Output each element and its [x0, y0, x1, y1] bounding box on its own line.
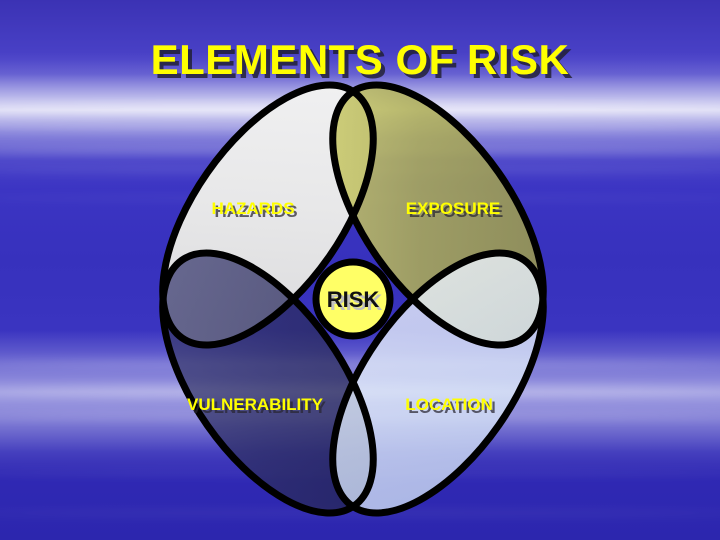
risk-center-circle[interactable]: [316, 262, 390, 336]
slide-canvas: ELEMENTS OF RISK: [0, 0, 720, 540]
risk-venn-diagram: HAZARDS EXPOSURE VULNERABILITY LOCATION …: [0, 0, 720, 540]
venn-svg: [0, 0, 720, 540]
